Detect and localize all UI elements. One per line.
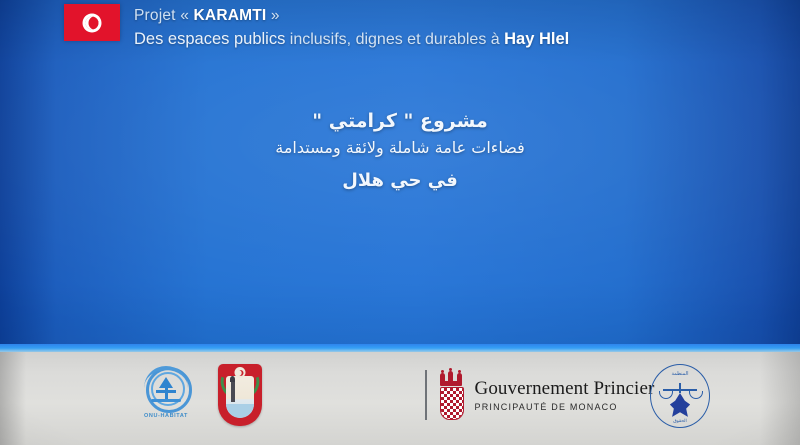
tunisia-flag-icon: ★ — [64, 4, 120, 41]
monaco-checkers — [441, 388, 463, 419]
subtitle-middle: inclusifs, dignes et durables à — [285, 31, 504, 48]
monaco-text-block: Gouvernement Princier PRINCIPAUTÉ DE MON… — [475, 378, 655, 413]
scales-pan-left — [659, 391, 673, 399]
slide-header: ★ Projet « KARAMTI » Des espaces publics… — [64, 4, 569, 51]
onu-habitat-icon — [142, 366, 190, 410]
monaco-crown — [438, 372, 464, 386]
arabic-title: مشروع " كرامتي " — [0, 108, 800, 134]
arabic-text-block: مشروع " كرامتي " فضاءات عامة شاملة ولائق… — [0, 108, 800, 194]
onu-habitat-caption: ONU-HABITAT — [133, 413, 199, 419]
subtitle-line: Des espaces publics inclusifs, dignes et… — [134, 28, 569, 51]
arabic-place: في حي هلال — [0, 168, 800, 194]
monaco-checkered-shield — [440, 387, 464, 420]
justice-scales-icon: المنظمة الحقوق — [650, 364, 710, 428]
flag-star: ★ — [91, 18, 99, 27]
shield-tower — [231, 380, 235, 402]
justice-top-text: المنظمة — [651, 371, 709, 377]
shield-crescent-badge — [235, 367, 246, 378]
municipality-shield-icon — [218, 364, 262, 426]
shield-tower-top — [230, 376, 235, 382]
project-line: Projet « KARAMTI » — [134, 6, 569, 25]
onu-house-bar — [156, 390, 176, 393]
justice-bottom-text: الحقوق — [651, 418, 709, 424]
arabic-subtitle: فضاءات عامة شاملة ولائقة ومستدامة — [0, 136, 800, 160]
justice-scales-logo: المنظمة الحقوق — [645, 364, 715, 428]
footer-logo-row: ONU-HABITAT — [0, 352, 800, 445]
header-text-block: Projet « KARAMTI » Des espaces publics i… — [134, 4, 569, 51]
municipality-shield-logo — [218, 364, 262, 426]
crown-band — [440, 381, 462, 386]
justice-dove-flame — [669, 393, 691, 419]
scales-pan-right — [689, 391, 703, 399]
project-name: KARAMTI — [194, 7, 267, 24]
projection-slide: ★ Projet « KARAMTI » Des espaces publics… — [0, 0, 800, 445]
monaco-government-logo: Gouvernement Princier PRINCIPAUTÉ DE MON… — [425, 370, 654, 420]
monaco-subtitle: PRINCIPAUTÉ DE MONACO — [475, 401, 655, 413]
crown-dot-center — [449, 368, 452, 371]
crown-dot-right — [458, 370, 461, 373]
subtitle-place: Hay Hlel — [504, 30, 569, 48]
subtitle-lead: Des espaces publics — [134, 30, 285, 48]
monaco-crown-shield-icon — [436, 372, 466, 418]
onu-habitat-logo: ONU-HABITAT — [133, 366, 199, 419]
monaco-divider-rule — [425, 370, 427, 420]
project-suffix: » — [266, 7, 279, 24]
badge-crescent — [237, 370, 243, 376]
monaco-title: Gouvernement Princier — [475, 378, 655, 400]
scales-post — [679, 383, 681, 393]
crown-dot-left — [441, 370, 444, 373]
shield-water — [226, 404, 254, 418]
project-prefix: Projet « — [134, 7, 194, 24]
onu-base — [151, 399, 181, 402]
